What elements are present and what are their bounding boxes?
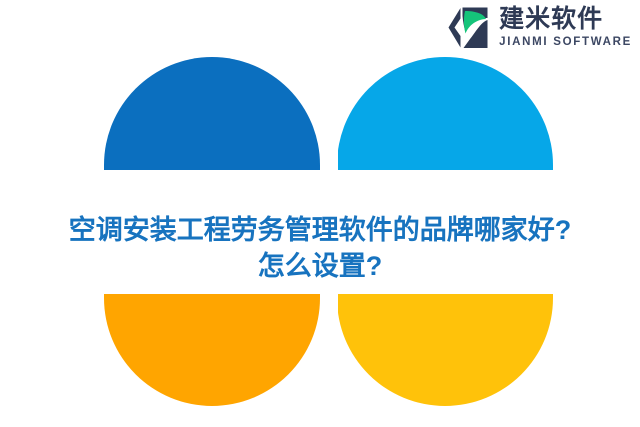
brand-name-en: JIANMI SOFTWARE [499,35,632,50]
brand-logo-text: 建米软件 JIANMI SOFTWARE [499,6,632,49]
headline-text: 空调安装工程劳务管理软件的品牌哪家好? 怎么设置? [0,206,640,290]
poster-canvas: 空调安装工程劳务管理软件的品牌哪家好? 怎么设置? 建米软件 JIANMI SO… [0,0,640,427]
headline-line-1: 空调安装工程劳务管理软件的品牌哪家好? [69,212,572,248]
brand-name-cn: 建米软件 [499,6,632,32]
brand-logo: 建米软件 JIANMI SOFTWARE [446,4,632,52]
jianmi-leaf-logo-icon [446,6,492,50]
headline-line-2: 怎么设置? [258,248,383,284]
